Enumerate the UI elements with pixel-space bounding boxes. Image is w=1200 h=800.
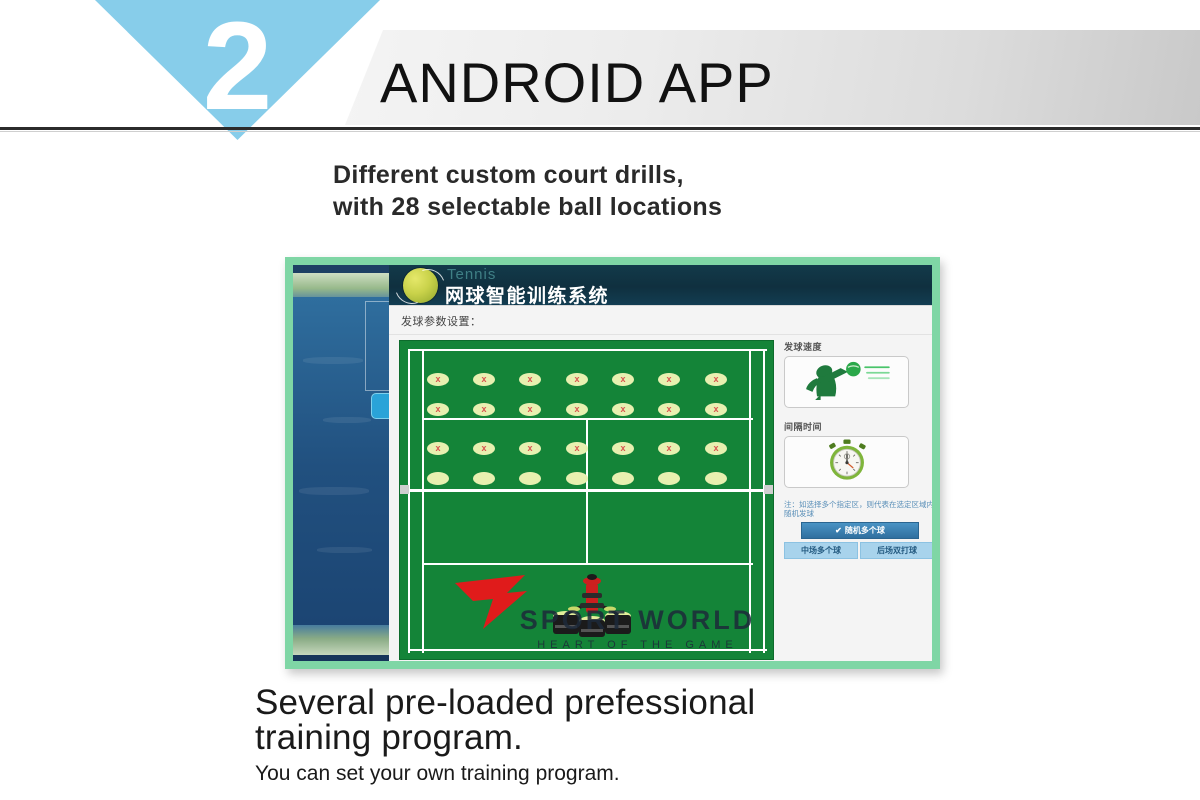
ball-location-marker[interactable]: x: [519, 442, 541, 455]
interval-time-label: 间隔时间: [784, 420, 932, 433]
ball-location-marker[interactable]: x: [658, 442, 680, 455]
param-settings-label: 发球参数设置：: [401, 313, 482, 329]
court-line-baseline-bottom: [408, 649, 767, 651]
court-line-singles-left: [422, 349, 424, 653]
tennis-player-icon: [795, 360, 899, 405]
court-line-doubles-right: [763, 349, 765, 653]
tennis-court-diagram[interactable]: xxxxxxxxxxxxxxxxxxxxx: [399, 340, 774, 660]
ball-location-marker[interactable]: [566, 472, 588, 485]
ball-location-marker[interactable]: x: [705, 373, 727, 386]
ball-machine-illustration: [546, 569, 638, 637]
ball-location-marker[interactable]: [427, 472, 449, 485]
footer-heading-line-1: Several pre-loaded prefessional: [255, 685, 1045, 720]
midcourt-multi-ball-button[interactable]: 中场多个球: [784, 542, 858, 559]
interval-time-control[interactable]: [784, 436, 909, 488]
ball-location-marker[interactable]: x: [519, 403, 541, 416]
backcourt-doubles-button[interactable]: 后场双打球: [860, 542, 932, 559]
slide-root: ANDROID APP 2 Different custom court dri…: [0, 0, 1200, 800]
app-window: Tennis 网球智能训练系统 发球参数设置：: [389, 265, 932, 661]
app-title-cn: 网球智能训练系统: [445, 281, 609, 308]
ball-location-marker[interactable]: x: [612, 403, 634, 416]
court-line-doubles-left: [408, 349, 410, 653]
ball-location-marker[interactable]: [519, 472, 541, 485]
subtitle: Different custom court drills, with 28 s…: [333, 160, 1033, 223]
check-icon: ✔: [835, 526, 842, 535]
subtitle-line-2: with 28 selectable ball locations: [333, 192, 1033, 224]
ball-location-marker[interactable]: x: [473, 442, 495, 455]
settings-panel: 发球速度: [784, 340, 932, 655]
footer-subtext: You can set your own training program.: [255, 762, 1045, 786]
selection-note: 注：如选择多个指定区，则代表在选定区域内随机发球: [784, 500, 932, 518]
app-screenshot: Tennis 网球智能训练系统 发球参数设置：: [293, 265, 932, 661]
app-body: 发球参数设置：: [389, 305, 932, 661]
net-post-left: [400, 485, 409, 494]
court-line-baseline-top: [408, 349, 767, 351]
stopwatch-icon: [822, 438, 872, 487]
ball-location-marker[interactable]: [658, 472, 680, 485]
red-arrow-annotation: [455, 569, 550, 631]
secondary-button-row: 中场多个球 后场双打球: [784, 542, 932, 559]
ball-location-marker[interactable]: x: [705, 403, 727, 416]
serve-speed-label: 发球速度: [784, 340, 932, 353]
footer-heading: Several pre-loaded prefessional training…: [255, 685, 1045, 755]
ball-location-marker[interactable]: x: [566, 403, 588, 416]
court-line-singles-right: [749, 349, 751, 653]
ball-location-marker[interactable]: x: [566, 442, 588, 455]
ball-location-marker[interactable]: x: [473, 403, 495, 416]
ball-location-marker[interactable]: x: [658, 403, 680, 416]
ball-location-marker[interactable]: [705, 472, 727, 485]
ball-location-marker[interactable]: x: [658, 373, 680, 386]
page-header: ANDROID APP 2: [0, 0, 1200, 130]
ball-location-marker[interactable]: x: [427, 373, 449, 386]
tennis-ball-icon: [403, 268, 438, 303]
ball-location-marker[interactable]: x: [612, 442, 634, 455]
ball-location-marker[interactable]: [473, 472, 495, 485]
app-separator: [389, 334, 932, 335]
step-number: 2: [95, 0, 380, 136]
ball-location-marker[interactable]: x: [427, 442, 449, 455]
subtitle-line-1: Different custom court drills,: [333, 160, 1033, 192]
ball-location-marker[interactable]: x: [427, 403, 449, 416]
header-divider-shadow: [0, 131, 1200, 132]
random-multi-ball-button[interactable]: ✔ 随机多个球: [801, 522, 919, 539]
ball-location-marker[interactable]: x: [612, 373, 634, 386]
app-screenshot-frame: Tennis 网球智能训练系统 发球参数设置：: [285, 257, 940, 669]
ball-location-marker[interactable]: x: [473, 373, 495, 386]
net-post-right: [764, 485, 773, 494]
ball-location-marker[interactable]: x: [519, 373, 541, 386]
random-multi-ball-label: 随机多个球: [845, 525, 885, 536]
serve-speed-control[interactable]: [784, 356, 909, 408]
court-line-center-service: [586, 418, 588, 564]
ball-location-marker[interactable]: x: [705, 442, 727, 455]
ball-location-marker[interactable]: [612, 472, 634, 485]
page-title: ANDROID APP: [380, 50, 774, 115]
app-title-bar: Tennis 网球智能训练系统: [389, 265, 932, 305]
ball-location-marker[interactable]: x: [566, 373, 588, 386]
header-divider: [0, 127, 1200, 130]
footer-heading-line-2: training program.: [255, 720, 1045, 755]
